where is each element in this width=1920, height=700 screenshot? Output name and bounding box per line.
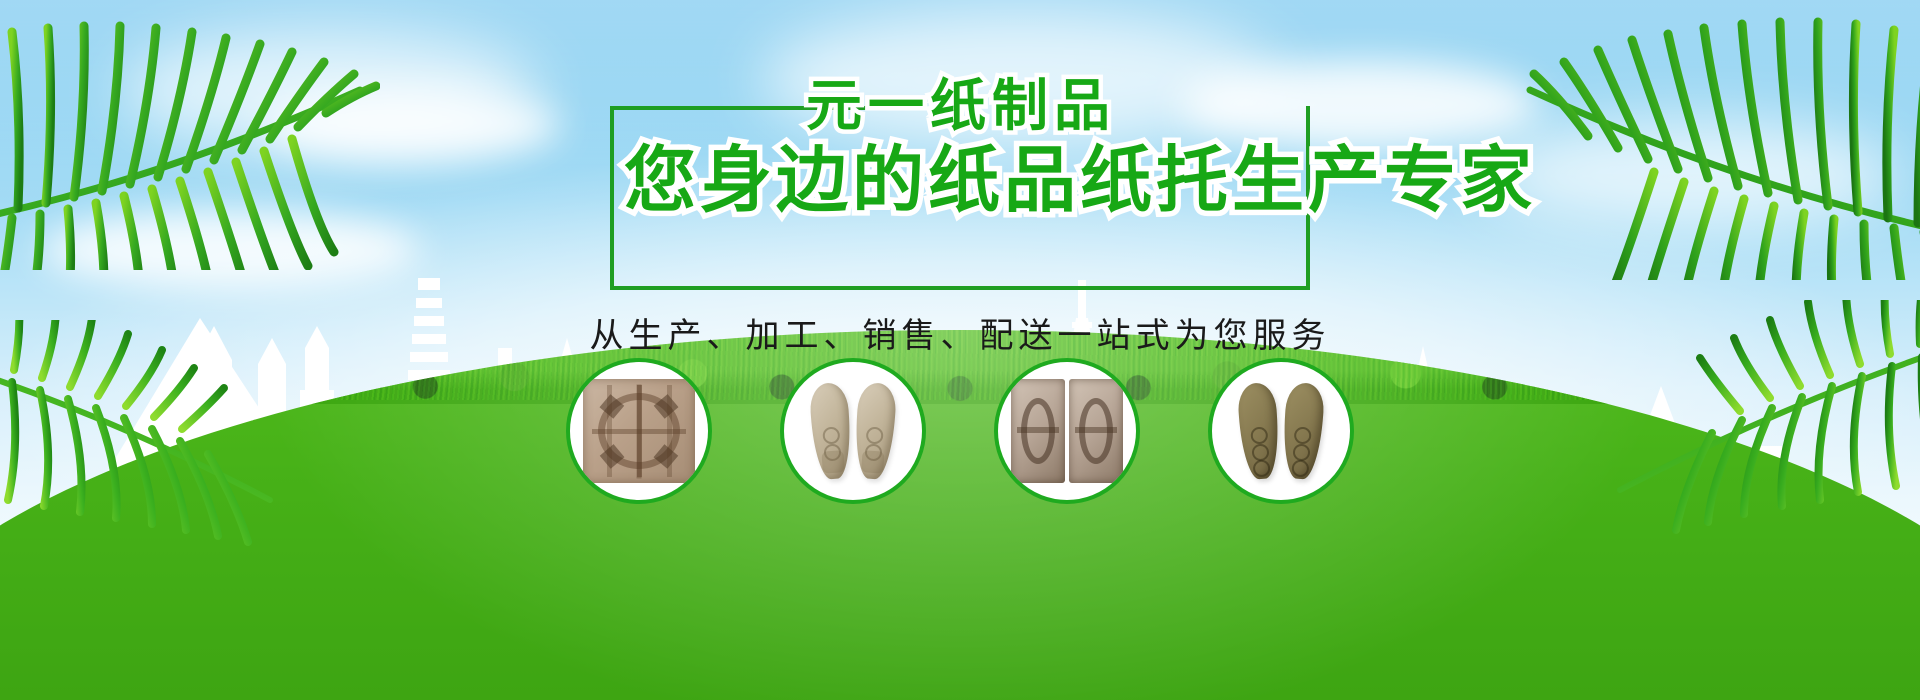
frame-left-line <box>610 106 614 290</box>
headline-frame: 元一纸制品 您身边的纸品纸托生产专家 <box>610 78 1310 290</box>
product-circle-molded-pulp-square-tray[interactable] <box>566 358 712 504</box>
paper-pulp-shoe-tree-pair-dark-image <box>1225 379 1337 483</box>
paper-pulp-shoe-tree-pair-light-image <box>797 379 909 483</box>
headline-block: 元一纸制品 您身边的纸品纸托生产专家 从生产、加工、销售、配送一站式为您服务 <box>0 78 1920 357</box>
product-circle-paper-pulp-shoe-tree-pair-dark[interactable] <box>1208 358 1354 504</box>
product-circle-paper-pulp-shoe-tree-pair-light[interactable] <box>780 358 926 504</box>
headline-line-1: 元一纸制品 <box>806 74 1116 138</box>
promo-banner: 元一纸制品 您身边的纸品纸托生产专家 从生产、加工、销售、配送一站式为您服务 <box>0 0 1920 700</box>
molded-pulp-double-tray-image <box>1011 379 1123 483</box>
headline-line-2: 您身边的纸品纸托生产专家 <box>624 138 1536 224</box>
product-circle-molded-pulp-double-tray[interactable] <box>994 358 1140 504</box>
banner-subtitle: 从生产、加工、销售、配送一站式为您服务 <box>590 308 1331 357</box>
frame-bottom-line <box>610 286 1310 290</box>
product-circle-row <box>0 358 1920 518</box>
molded-pulp-square-tray-image <box>583 379 695 483</box>
